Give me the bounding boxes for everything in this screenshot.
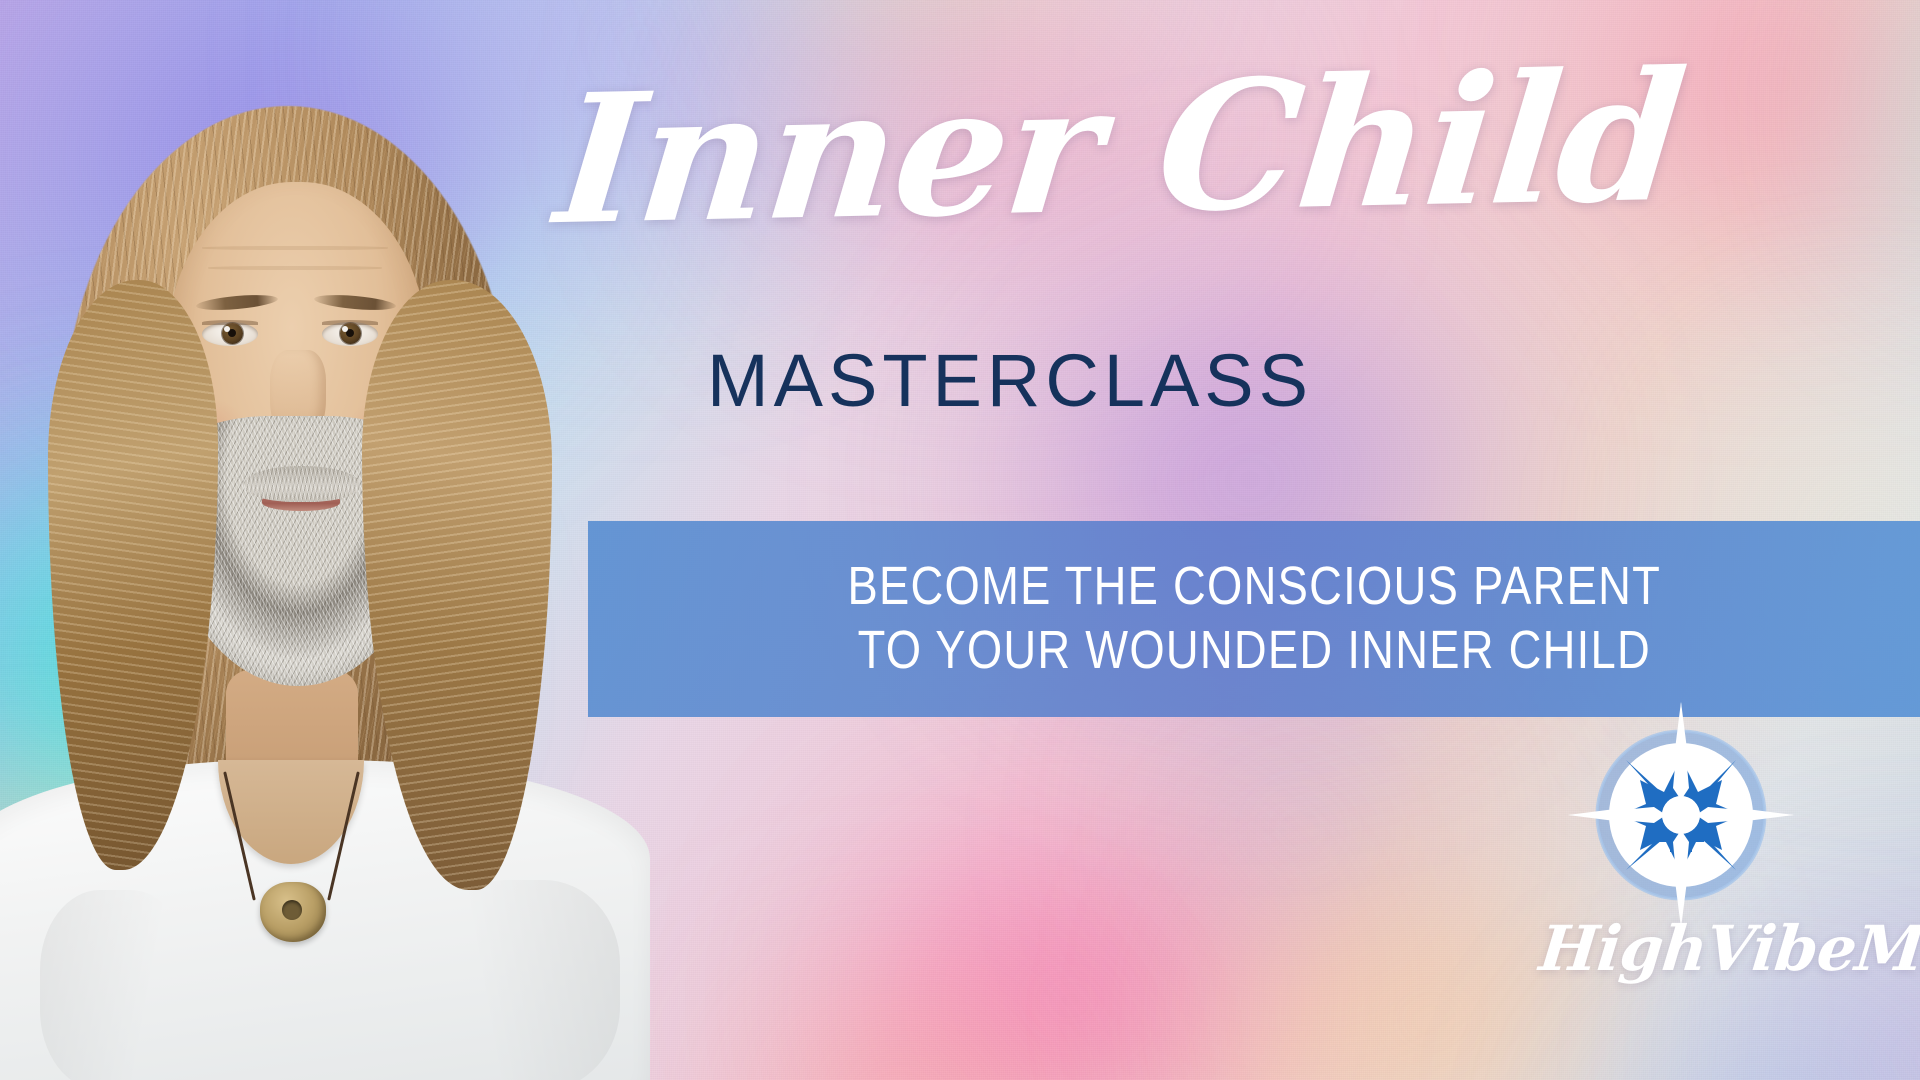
tagline-banner: BECOME THE CONSCIOUS PARENT TO YOUR WOUN… — [588, 521, 1920, 717]
forehead-line — [202, 246, 388, 250]
page-title-script: Inner Child — [550, 53, 1450, 249]
eyelid-left — [202, 320, 258, 325]
compass-rose-icon — [1566, 700, 1796, 930]
shirt-fold-left — [40, 890, 190, 1080]
brand-logo: HighVibeMike — [1560, 700, 1920, 1060]
portrait-photo — [0, 70, 630, 1080]
page-subtitle-masterclass: MASTERCLASS — [560, 344, 1460, 418]
shirt-fold-right — [430, 880, 620, 1080]
eyelid-right — [322, 320, 378, 325]
brand-wordmark: HighVibeMike — [1536, 912, 1920, 985]
tagline-line-2: TO YOUR WOUNDED INNER CHILD — [857, 619, 1650, 683]
pendant-center-hole — [282, 900, 302, 920]
forehead-line — [208, 266, 382, 270]
tagline-line-1: BECOME THE CONSCIOUS PARENT — [847, 555, 1661, 619]
poster-canvas: Inner Child MASTERCLASS BECOME THE CONSC… — [0, 0, 1920, 1080]
eye-highlight-right — [342, 326, 348, 332]
mustache — [244, 466, 360, 502]
eye-highlight-left — [224, 326, 230, 332]
